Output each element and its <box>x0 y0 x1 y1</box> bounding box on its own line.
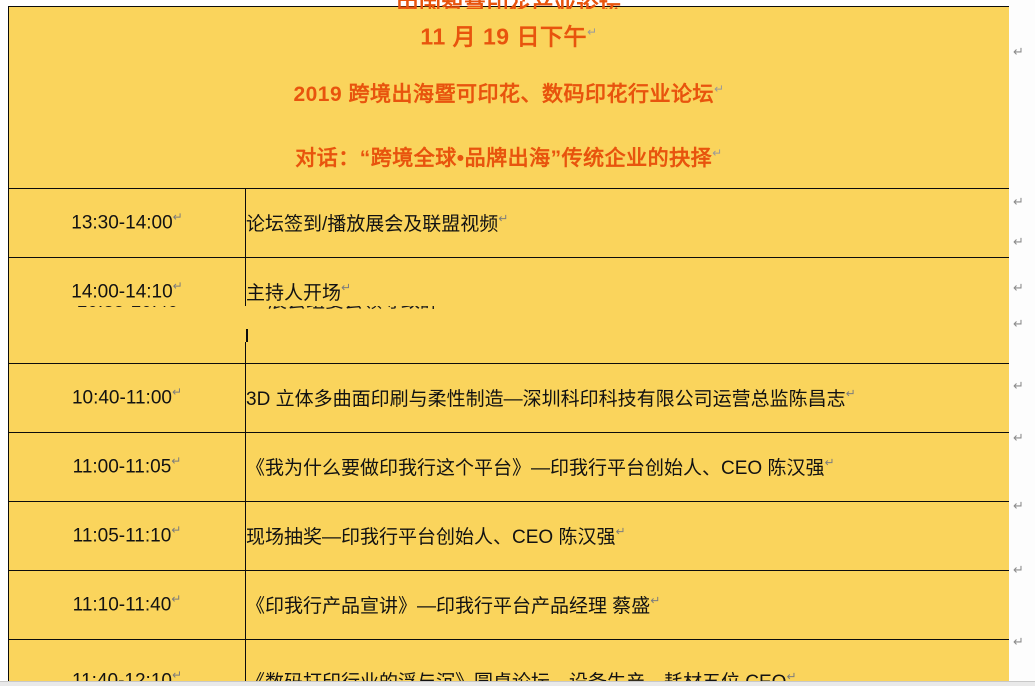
table-header-row: 中国智慧印花产业论坛 11 月 19 日下午↵ 2019 跨境出海暨可印花、数码… <box>9 7 1010 189</box>
return-mark-icon: ↵ <box>1013 318 1029 331</box>
row-topic-cell: 现场抽奖—印我行平台创始人、CEO 陈汉强↵ <box>246 501 1010 570</box>
artifact-column-divider <box>246 329 248 342</box>
table-row: 13:30-14:00↵ 论坛签到/播放展会及联盟视频↵ <box>9 188 1010 257</box>
table-row: 11:40-12:10↵ 《数码打印行业的浮与沉》圆桌论坛—设备生产、耗材五位 … <box>9 639 1010 686</box>
scroll-repaint-residue: 论坛签到/播放展会及联盟视频 <box>247 252 747 263</box>
artifact-row-topic: 展会组委会领导致辞 <box>268 306 439 321</box>
return-mark-icon: ↵ <box>171 454 181 468</box>
return-mark-icon: ↵ <box>172 385 182 399</box>
heading-date: 11 月 19 日下午↵ <box>9 9 1009 60</box>
row-time-text: 11:10-11:40 <box>73 595 172 616</box>
row-time-cell: 10:40-11:00↵ <box>9 363 246 432</box>
row-topic-cell: 论坛签到/播放展会及联盟视频↵ <box>246 188 1010 257</box>
agenda-title-block: 中国智慧印花产业论坛 11 月 19 日下午↵ 2019 跨境出海暨可印花、数码… <box>9 7 1010 189</box>
scroll-repaint-residue-text: 论坛签到/播放展会及联盟视频 <box>247 252 499 263</box>
heading-forum-name: 2019 跨境出海暨可印花、数码印花行业论坛↵ <box>9 60 1009 124</box>
row-time-text: 11:05-11:10 <box>73 526 172 547</box>
heading-dialogue-text: 对话：“跨境全球•品牌出海”传统企业的抉择 <box>295 147 712 170</box>
row-time-cell: 11:40-12:10↵ <box>9 639 246 686</box>
page-bottom-edge <box>0 681 1035 686</box>
row-time-text: 11:00-11:05 <box>73 457 172 478</box>
return-mark-icon: ↵ <box>714 82 725 96</box>
return-mark-icon: ↵ <box>846 387 856 401</box>
return-mark-icon: ↵ <box>1013 432 1029 445</box>
row-topic-text: 论坛签到/播放展会及联盟视频 <box>246 214 498 235</box>
table-row: 10:40-11:00↵ 3D 立体多曲面印刷与柔性制造—深圳科印科技有限公司运… <box>9 363 1010 432</box>
artifact-row-time: 10:35-10:40 <box>9 306 246 321</box>
row-topic-text: 主持人开场 <box>246 283 341 304</box>
row-topic-text: 现场抽奖—印我行平台创始人、CEO 陈汉强 <box>246 527 615 548</box>
return-mark-icon: ↵ <box>650 594 660 608</box>
return-mark-icon: ↵ <box>1013 380 1029 393</box>
row-topic-cell: 3D 立体多曲面印刷与柔性制造—深圳科印科技有限公司运营总监陈昌志↵ <box>246 363 1010 432</box>
return-mark-icon: ↵ <box>1013 500 1029 513</box>
return-mark-icon: ↵ <box>615 525 625 539</box>
row-time-cell: 13:30-14:00↵ <box>9 188 246 257</box>
row-topic-text: 《印我行产品宣讲》—印我行平台产品经理 蔡盛 <box>246 596 650 617</box>
return-mark-icon: ↵ <box>1013 236 1029 249</box>
heading-dialogue-topic: 对话：“跨境全球•品牌出海”传统企业的抉择↵ <box>9 124 1009 188</box>
row-time-cell: 11:00-11:05↵ <box>9 432 246 501</box>
row-topic-cell: 《印我行产品宣讲》—印我行平台产品经理 蔡盛↵ <box>246 570 1010 639</box>
row-topic-text: 3D 立体多曲面印刷与柔性制造—深圳科印科技有限公司运营总监陈昌志 <box>246 389 846 410</box>
clipped-top-heading: 中国智慧印花产业论坛 <box>9 0 1009 9</box>
return-mark-icon: ↵ <box>173 279 183 293</box>
return-mark-icon: ↵ <box>587 25 598 39</box>
document-page: 中国智慧印花产业论坛 11 月 19 日下午↵ 2019 跨境出海暨可印花、数码… <box>0 0 1035 686</box>
row-topic-cell: 《数码打印行业的浮与沉》圆桌论坛—设备生产、耗材五位 CEO↵ <box>246 639 1010 686</box>
return-mark-icon: ↵ <box>824 456 834 470</box>
return-mark-icon: ↵ <box>173 210 183 224</box>
row-time-cell: 11:10-11:40↵ <box>9 570 246 639</box>
heading-forum-text: 2019 跨境出海暨可印花、数码印花行业论坛 <box>293 83 714 106</box>
return-mark-icon: ↵ <box>1013 282 1029 295</box>
table-row: 11:00-11:05↵ 《我为什么要做印我行这个平台》—印我行平台创始人、CE… <box>9 432 1010 501</box>
return-mark-icon: ↵ <box>341 281 351 295</box>
return-mark-icon: ↵ <box>171 592 181 606</box>
row-topic-text: 《我为什么要做印我行这个平台》—印我行平台创始人、CEO 陈汉强 <box>246 458 824 479</box>
table-row: 11:05-11:10↵ 现场抽奖—印我行平台创始人、CEO 陈汉强↵ <box>9 501 1010 570</box>
table-row: 11:10-11:40↵ 《印我行产品宣讲》—印我行平台产品经理 蔡盛↵ <box>9 570 1010 639</box>
return-mark-icon: ↵ <box>1013 196 1029 209</box>
row-time-cell: 11:05-11:10↵ <box>9 501 246 570</box>
row-topic-cell: 《我为什么要做印我行这个平台》—印我行平台创始人、CEO 陈汉强↵ <box>246 432 1010 501</box>
heading-date-text: 11 月 19 日下午 <box>420 24 587 50</box>
row-time-text: 10:40-11:00 <box>72 388 172 409</box>
return-mark-icon: ↵ <box>712 146 723 160</box>
return-mark-icon: ↵ <box>1013 46 1029 59</box>
return-mark-icon: ↵ <box>171 523 181 537</box>
agenda-table: 中国智慧印花产业论坛 11 月 19 日下午↵ 2019 跨境出海暨可印花、数码… <box>8 6 1010 686</box>
scroll-repaint-artifact-inner: 10:35-10:40 展会组委会领导致辞 <box>9 306 1010 342</box>
row-time-text: 13:30-14:00 <box>71 213 172 234</box>
return-mark-icon: ↵ <box>1013 636 1029 649</box>
row-time-text: 14:00-14:10 <box>71 282 172 303</box>
scroll-repaint-artifact-row: 10:35-10:40 展会组委会领导致辞 <box>8 306 1011 342</box>
right-margin-strip: ↵↵↵↵↵↵↵↵↵↵ <box>1009 0 1035 686</box>
return-mark-icon: ↵ <box>498 212 508 226</box>
return-mark-icon: ↵ <box>1013 564 1029 577</box>
